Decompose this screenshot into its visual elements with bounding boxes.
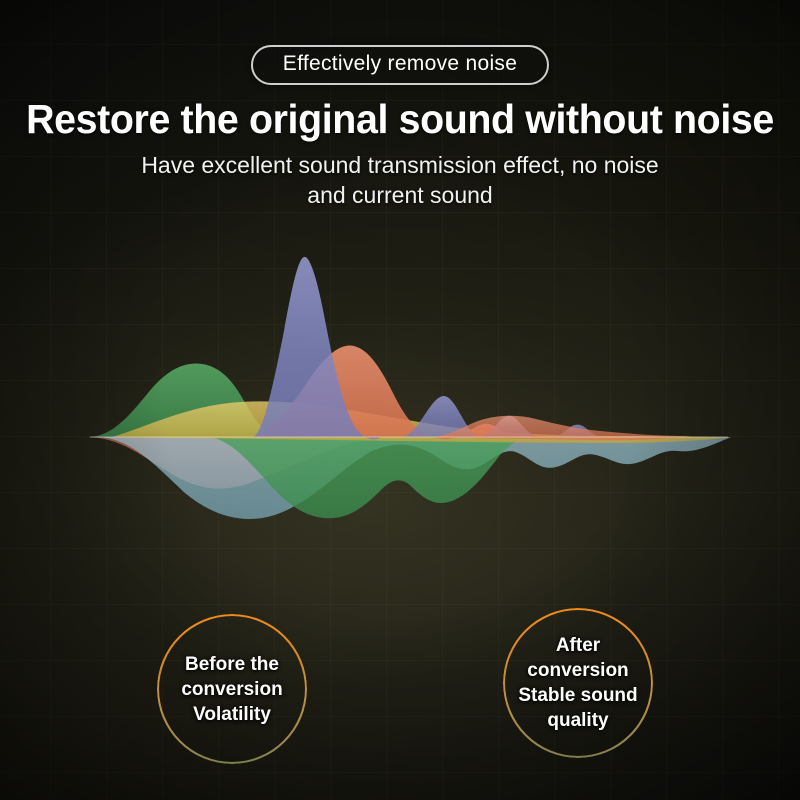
- page-title: Restore the original sound without noise: [16, 96, 784, 143]
- circle-before-label: Before the conversion Volatility: [175, 652, 288, 727]
- circle-after-conversion: After conversion Stable sound quality: [503, 608, 653, 758]
- subtitle-line-2: and current sound: [90, 180, 710, 210]
- circle-before-conversion: Before the conversion Volatility: [157, 614, 307, 764]
- badge-container: Effectively remove noise: [0, 45, 800, 85]
- page-subtitle: Have excellent sound transmission effect…: [90, 150, 710, 210]
- promo-banner: Effectively remove noise Restore the ori…: [0, 0, 800, 800]
- audio-waveform-graphic: [0, 215, 800, 545]
- circle-after-label: After conversion Stable sound quality: [512, 633, 643, 733]
- subtitle-line-1: Have excellent sound transmission effect…: [141, 152, 658, 178]
- headline-badge: Effectively remove noise: [251, 45, 549, 85]
